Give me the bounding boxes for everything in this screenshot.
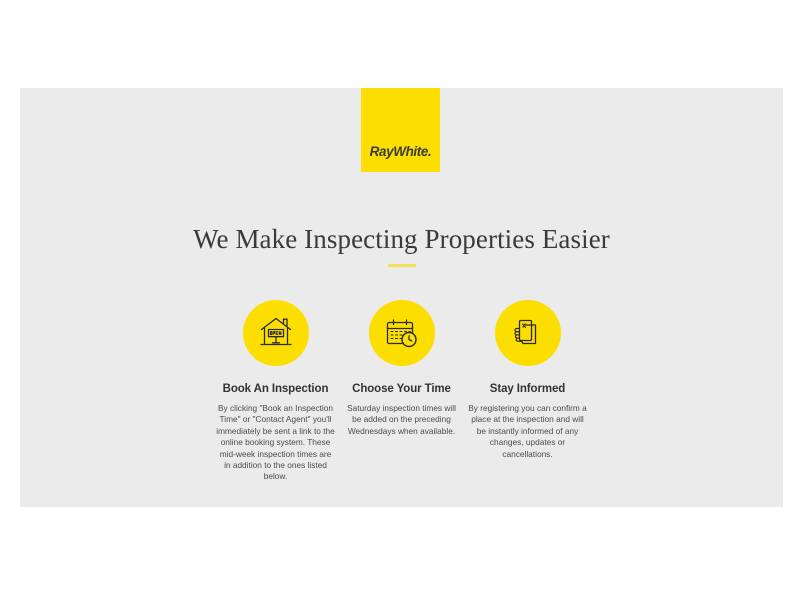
page-root: RayWhite. We Make Inspecting Properties … — [0, 0, 800, 600]
feature-body: Saturday inspection times will be added … — [342, 403, 461, 437]
feature-title: Book An Inspection — [223, 383, 329, 395]
feature-title: Choose Your Time — [352, 383, 451, 395]
feature-title: Stay Informed — [490, 383, 565, 395]
feature-column-book-an-inspection: Book An Inspection By clicking "Book an … — [213, 300, 339, 483]
hand-holding-phone-icon — [510, 316, 546, 350]
logo-text: RayWhite. — [361, 144, 440, 159]
feature-icon-circle-1 — [243, 300, 309, 366]
feature-icon-circle-3 — [495, 300, 561, 366]
content-panel: RayWhite. We Make Inspecting Properties … — [20, 88, 783, 507]
calendar-clock-icon — [384, 316, 420, 350]
house-open-sign-icon — [258, 316, 294, 350]
ray-white-logo: RayWhite. — [361, 88, 440, 172]
title-divider — [388, 264, 416, 267]
feature-column-choose-your-time: Choose Your Time Saturday inspection tim… — [339, 300, 465, 437]
feature-column-stay-informed: Stay Informed By registering you can con… — [465, 300, 591, 460]
feature-columns: Book An Inspection By clicking "Book an … — [20, 300, 783, 483]
feature-body: By clicking "Book an Inspection Time" or… — [216, 403, 335, 483]
page-title: We Make Inspecting Properties Easier — [20, 224, 783, 255]
feature-icon-circle-2 — [369, 300, 435, 366]
feature-body: By registering you can confirm a place a… — [468, 403, 587, 460]
